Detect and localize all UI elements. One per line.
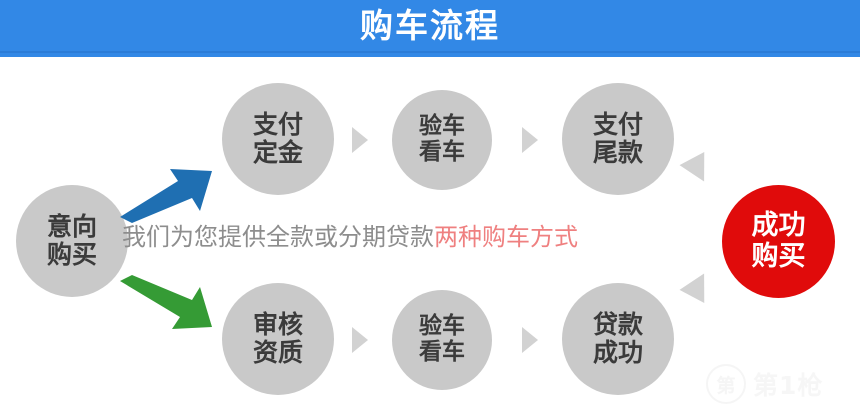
node-label-line-1: 支付 [253,111,303,139]
caption-highlight-text: 两种购车方式 [434,223,578,251]
flow-node-loan-approved[interactable]: 贷款 成功 [562,283,674,395]
header-underline [0,51,860,53]
header-banner: 购车流程 [0,0,860,57]
arrow-diagonal-down-icon [680,152,717,188]
node-label-line-1: 验车 [419,314,465,340]
center-caption: 我们为您提供全款或分期贷款两种购车方式 [0,217,700,252]
node-label-line-1: 贷款 [593,311,643,339]
caption-normal-text: 我们为您提供全款或分期贷款 [122,223,434,251]
arrow-right-icon [352,327,368,353]
node-label-line-1: 审核 [253,311,303,339]
node-label-line-2: 定金 [253,139,303,167]
node-label-line-2: 看车 [419,140,465,166]
node-label-line-1: 支付 [593,111,643,139]
node-label-line-2: 尾款 [593,139,643,167]
branch-arrow-full-payment [118,167,214,223]
watermark-logo-icon: 第 [706,364,746,404]
page-title: 购车流程 [0,0,860,52]
flow-node-inspect-car-top[interactable]: 验车 看车 [392,90,492,190]
arrow-right-icon [522,127,538,153]
node-label-line-2: 资质 [253,339,303,367]
flow-node-review-qualification[interactable]: 审核 资质 [222,283,334,395]
flow-node-pay-balance[interactable]: 支付 尾款 [562,83,674,195]
node-label-line-2: 成功 [593,339,643,367]
watermark: 第 第1枪 [706,361,854,407]
flow-diagram: 意向 购买 全款购车 全款购车 支付 定金 验车 看车 支付 尾款 审核 资质 … [0,57,860,412]
node-label-line-2: 购买 [752,242,806,272]
node-label-line-1: 成功 [752,211,806,241]
branch-arrow-loan-payment [118,275,214,331]
watermark-text: 第1枪 [753,366,823,402]
flow-node-pay-deposit[interactable]: 支付 定金 [222,83,334,195]
node-label-line-1: 验车 [419,114,465,140]
arrow-right-icon [352,127,368,153]
node-label-line-2: 看车 [419,340,465,366]
arrow-diagonal-up-icon [680,267,717,303]
flow-node-inspect-car-bottom[interactable]: 验车 看车 [392,290,492,390]
flow-node-purchase-success[interactable]: 成功 购买 [722,185,835,298]
arrow-right-icon [522,327,538,353]
